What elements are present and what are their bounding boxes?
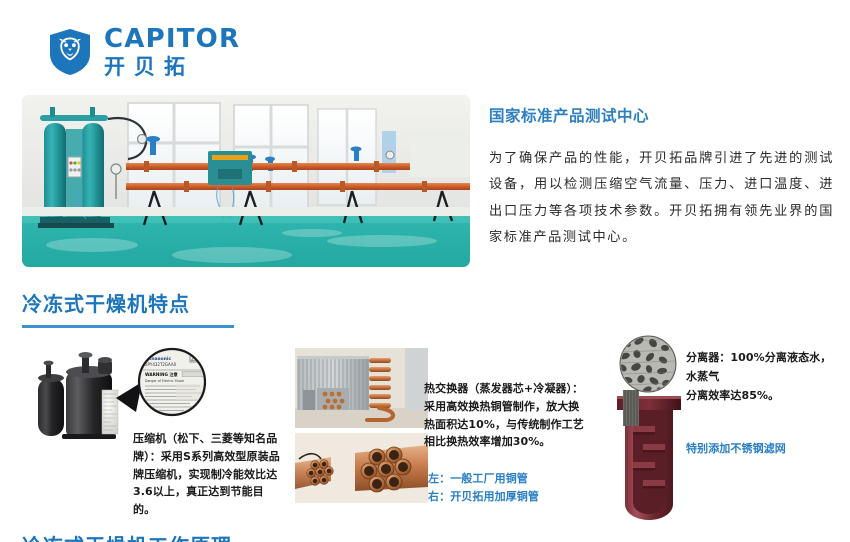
lion-shield-icon xyxy=(48,28,92,76)
heat-exchanger-caption: 热交换器（蒸发器芯+冷凝器）：采用高效换热铜管制作，放大换热面积达10%，与传统… xyxy=(424,380,589,451)
brand-latin-name: CAPITOR xyxy=(104,26,240,52)
section-divider xyxy=(22,325,234,328)
heat-exchanger-photo xyxy=(295,348,428,428)
hero-text-block: 国家标准产品测试中心 为了确保产品的性能，开贝拓品牌引进了先进的测试设备，用以检… xyxy=(489,104,834,252)
section-title: 冷冻式干燥机特点 xyxy=(22,288,234,317)
separator-photo xyxy=(603,334,695,526)
brand-logo: CAPITOR 开贝拓 xyxy=(48,26,240,78)
svg-text:Danger of Electric Shock: Danger of Electric Shock xyxy=(145,379,184,383)
separator-caption-line2: 水蒸气 xyxy=(686,368,846,387)
heat-exchanger-legend: 左：一般工厂用铜管 右：开贝拓用加厚铜管 xyxy=(428,470,598,506)
svg-text:2PY432T2GAA0: 2PY432T2GAA0 xyxy=(145,362,177,367)
compressor-caption: 压缩机（松下、三菱等知名品牌）：采用S系列高效型原装品牌压缩机，实现制冷能效比达… xyxy=(133,430,283,519)
separator-note: 特别添加不锈钢滤网 xyxy=(686,440,850,456)
section-heading: 冷冻式干燥机特点 xyxy=(22,288,234,328)
hero-title: 国家标准产品测试中心 xyxy=(489,104,834,126)
legend-left: 左：一般工厂用铜管 xyxy=(428,470,598,488)
separator-caption: 分离器：100%分离液态水， 水蒸气 分离效率达85%。 xyxy=(686,349,846,406)
testing-center-photo xyxy=(22,95,470,267)
separator-caption-line3: 分离效率达85%。 xyxy=(686,387,846,406)
copper-pipes-photo xyxy=(295,433,428,503)
brand-chinese-name: 开贝拓 xyxy=(104,57,240,78)
next-section-title: 冷冻式干燥机工作原理 xyxy=(22,530,322,542)
next-section-heading-clipped: 冷冻式干燥机工作原理 xyxy=(22,530,322,542)
hero-body: 为了确保产品的性能，开贝拓品牌引进了先进的测试设备，用以检测压缩空气流量、压力、… xyxy=(489,146,834,252)
svg-text:WARNING 注意: WARNING 注意 xyxy=(145,371,179,378)
separator-caption-line1: 分离器：100%分离液态水， xyxy=(686,349,846,368)
legend-right: 右：开贝拓用加厚铜管 xyxy=(428,488,598,506)
